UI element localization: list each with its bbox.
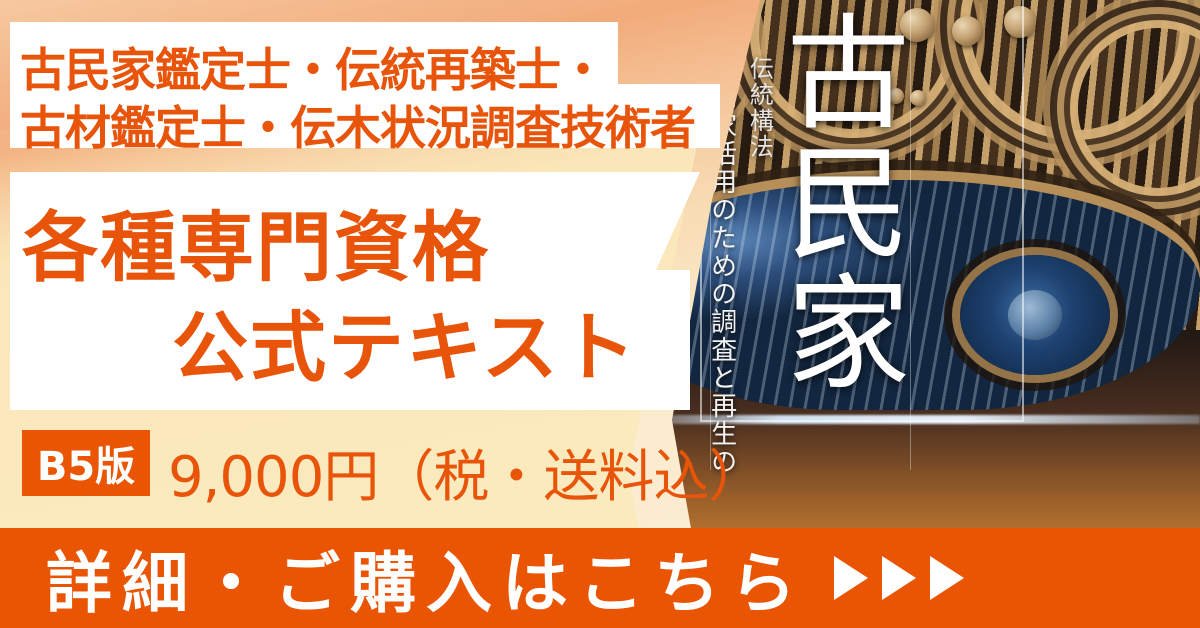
format-badge: B5版 [22,430,150,496]
cta-arrows [834,556,964,600]
carved-knob [952,16,982,46]
triangle-right-icon [882,556,916,600]
book-title: 古民家 [765,8,905,398]
headline-line-1: 各種専門資格 [22,186,490,296]
triangle-right-icon [834,556,868,600]
frame-line [910,0,911,470]
price-text: 9,000円（税・送料込） [168,432,763,513]
promo-banner: 伝統構法 古民家活用のための調査と再生の 古民家 古民家鑑定士・伝統再築士・ 古… [0,0,1200,628]
qualifications-line-1: 古民家鑑定士・伝統再築士・ [20,34,605,100]
cta-bar[interactable]: 詳細・ご購入はこちら [0,528,1200,628]
cta-label: 詳細・ご購入はこちら [46,530,806,626]
highlight-streak [600,415,1200,424]
headline-line-2: 公式テキスト [172,286,638,396]
qualifications-line-2: 古材鑑定士・伝木状況調査技術者 [20,92,695,158]
blue-medallion [960,255,1110,375]
carved-knob [910,90,926,106]
carved-knob [1004,6,1036,38]
triangle-right-icon [930,556,964,600]
